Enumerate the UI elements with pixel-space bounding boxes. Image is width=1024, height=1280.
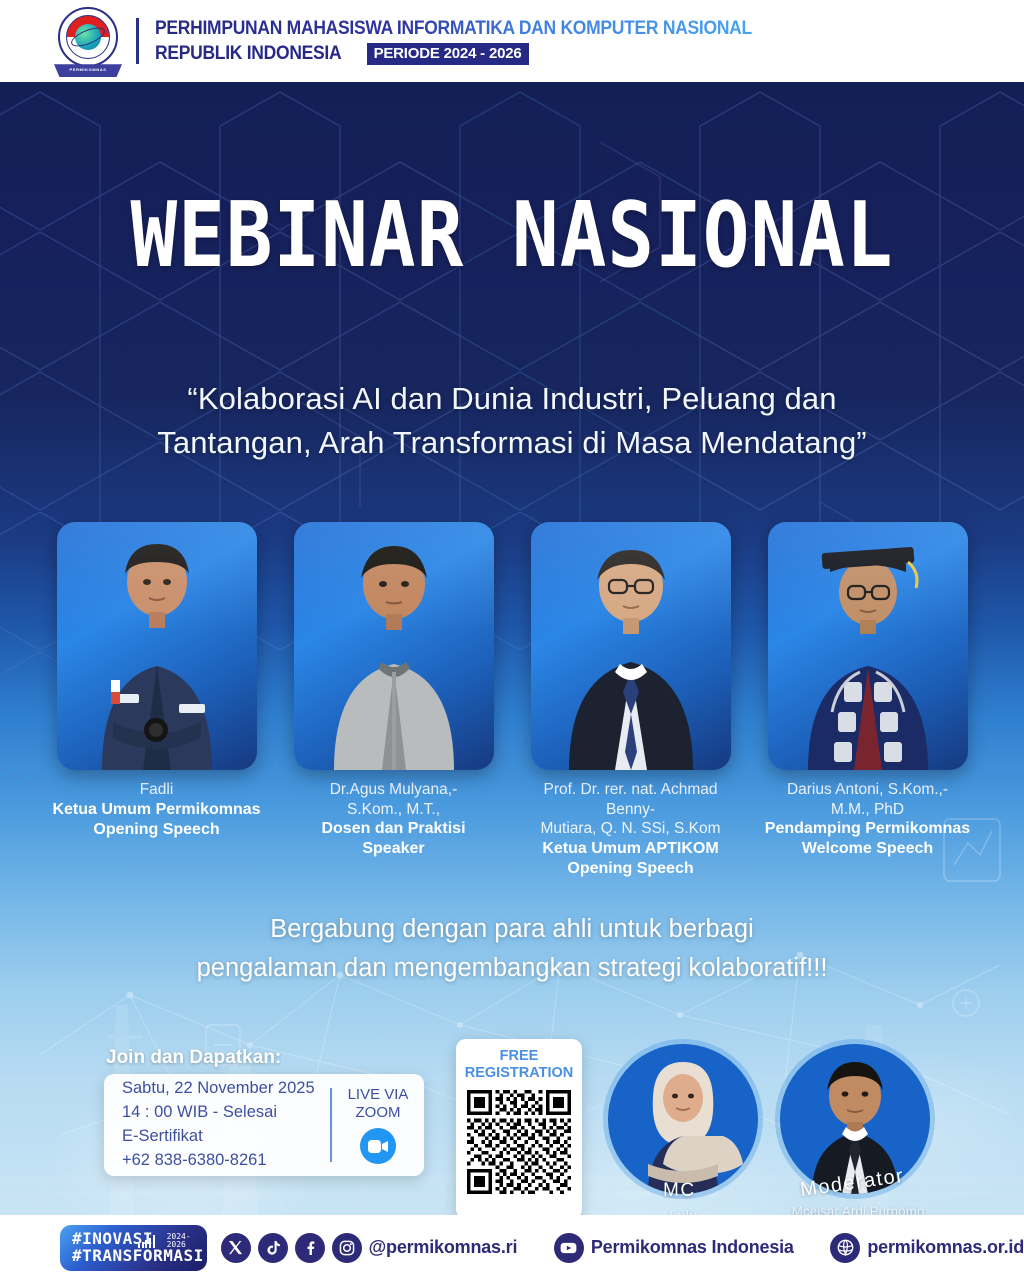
mc-role-label: MC — [663, 1180, 696, 1202]
x-twitter-icon[interactable] — [221, 1233, 251, 1263]
live-platform: LIVE VIA ZOOM — [332, 1086, 424, 1164]
speaker-photo — [294, 522, 494, 770]
live-via-label: LIVE VIA ZOOM — [348, 1086, 409, 1122]
moderator-name: Mceisar Ardi Purnomo Saputra EN — [778, 1204, 938, 1215]
permikomnas-logo: PERMIKOMNAS — [52, 5, 124, 77]
speaker-photo — [768, 522, 968, 770]
tagline-line-2: pengalaman dan mengembangkan strategi ko… — [82, 949, 942, 988]
tiktok-icon[interactable] — [258, 1233, 288, 1263]
event-date: Sabtu, 22 November 2025 — [122, 1077, 330, 1101]
tagline: Bergabung dengan para ahli untuk berbagi… — [82, 910, 942, 988]
speakers-row: Fadli Ketua Umum Permikomnas Opening Spe… — [0, 522, 1024, 879]
poster-footer: #INOVASI #TRANSFORMASI 2024- 2026 @permi… — [0, 1215, 1024, 1280]
mc-avatar — [608, 1044, 758, 1194]
poster-title: WEBINAR NASIONAL — [0, 182, 1024, 287]
subtitle-line-2: Tantangan, Arah Transformasi di Masa Men… — [102, 421, 922, 465]
youtube-icon[interactable] — [554, 1233, 584, 1263]
qr-code-icon[interactable] — [467, 1090, 571, 1194]
speaker-task: Welcome Speech — [765, 839, 970, 859]
speaker-photo-frame — [57, 522, 257, 770]
website-globe-icon[interactable] — [830, 1233, 860, 1263]
logo-ribbon-label: PERMIKOMNAS — [69, 67, 106, 72]
speaker-photo-frame — [531, 522, 731, 770]
periode-badge: PERIODE 2024 - 2026 — [367, 43, 529, 65]
speaker-card: Dr.Agus Mulyana,- S.Kom., M.T., Dosen da… — [286, 522, 501, 879]
speaker-role: Ketua Umum APTIKOM — [523, 839, 738, 859]
registration-title: FREE REGISTRATION — [465, 1048, 573, 1083]
org-name-line1: PERHIMPUNAN MAHASISWA INFORMATIKA DAN KO… — [155, 18, 752, 40]
webinar-poster: PERMIKOMNAS PERHIMPUNAN MAHASISWA INFORM… — [0, 0, 1024, 1280]
mc-name: Lulu — [608, 1208, 758, 1215]
instagram-icon[interactable] — [332, 1233, 362, 1263]
event-phone: +62 838-6380-8261 — [122, 1149, 330, 1173]
instagram-handle[interactable]: @permikomnas.ri — [369, 1237, 518, 1258]
live-line-1: LIVE VIA — [348, 1086, 409, 1104]
subtitle-line-1: “Kolaborasi AI dan Dunia Industri, Pelua… — [102, 377, 922, 421]
speaker-name: Fadli — [52, 780, 260, 800]
website-group: permikomnas.or.id — [830, 1233, 1024, 1263]
event-certificate: E-Sertifikat — [122, 1125, 330, 1149]
poster-header: PERMIKOMNAS PERHIMPUNAN MAHASISWA INFORM… — [0, 0, 1024, 82]
poster-subtitle: “Kolaborasi AI dan Dunia Industri, Pelua… — [102, 377, 922, 465]
registration-qr-card[interactable]: FREE REGISTRATION — [456, 1039, 582, 1215]
website-url[interactable]: permikomnas.or.id — [867, 1237, 1024, 1258]
speaker-role: Dosen dan Praktisi — [321, 819, 465, 839]
speaker-card: Fadli Ketua Umum Permikomnas Opening Spe… — [49, 522, 264, 879]
join-label: Join dan Dapatkan: — [106, 1047, 281, 1069]
youtube-channel[interactable]: Permikomnas Indonesia — [591, 1237, 794, 1258]
signal-bars-icon — [138, 1235, 154, 1248]
poster-body: WEBINAR NASIONAL “Kolaborasi AI dan Duni… — [0, 82, 1024, 1215]
registration-line-2: REGISTRATION — [465, 1065, 573, 1082]
tagline-line-1: Bergabung dengan para ahli untuk berbagi — [82, 910, 942, 949]
speaker-task: Speaker — [321, 839, 465, 859]
speaker-task: Opening Speech — [52, 820, 260, 840]
speaker-name: Dr.Agus Mulyana,- S.Kom., M.T., — [321, 780, 465, 819]
speaker-photo-frame — [768, 522, 968, 770]
speaker-card: Darius Antoni, S.Kom.,- M.M., PhD Pendam… — [760, 522, 975, 879]
live-line-2: ZOOM — [348, 1104, 409, 1122]
registration-line-1: FREE — [465, 1048, 573, 1065]
speaker-photo — [531, 522, 731, 770]
logo-emblem-icon — [58, 7, 118, 67]
event-time: 14 : 00 WIB - Selesai — [122, 1101, 330, 1125]
speaker-name: Darius Antoni, S.Kom.,- M.M., PhD — [765, 780, 970, 819]
header-divider — [136, 18, 139, 64]
event-details-card: Sabtu, 22 November 2025 14 : 00 WIB - Se… — [104, 1074, 424, 1176]
hashtag-year: 2024- 2026 — [167, 1233, 191, 1251]
org-name-line2: REPUBLIK INDONESIA — [155, 43, 341, 65]
speaker-role: Ketua Umum Permikomnas — [52, 800, 260, 820]
speaker-card: Prof. Dr. rer. nat. Achmad Benny- Mutiar… — [523, 522, 738, 879]
speaker-name: Prof. Dr. rer. nat. Achmad Benny- Mutiar… — [523, 780, 738, 839]
header-org-text: PERHIMPUNAN MAHASISWA INFORMATIKA DAN KO… — [155, 18, 804, 65]
facebook-icon[interactable] — [295, 1233, 325, 1263]
hashtag-badge: #INOVASI #TRANSFORMASI 2024- 2026 — [60, 1225, 207, 1271]
social-handles-group: @permikomnas.ri — [221, 1233, 518, 1263]
card-divider — [330, 1088, 332, 1162]
speaker-photo — [57, 522, 257, 770]
youtube-group: Permikomnas Indonesia — [554, 1233, 794, 1263]
speaker-task: Opening Speech — [523, 859, 738, 879]
speaker-role: Pendamping Permikomnas — [765, 819, 970, 839]
zoom-icon — [360, 1128, 396, 1164]
event-details-text: Sabtu, 22 November 2025 14 : 00 WIB - Se… — [104, 1069, 330, 1181]
speaker-photo-frame — [294, 522, 494, 770]
